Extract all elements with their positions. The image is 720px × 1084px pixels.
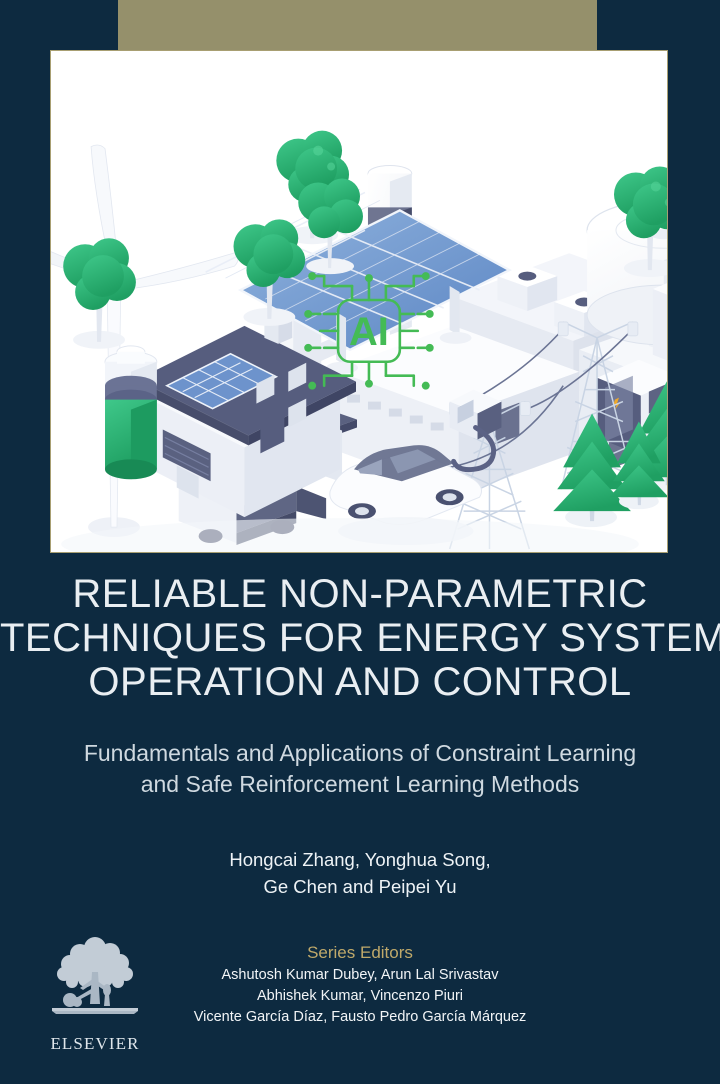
elsevier-logo: ELSEVIER <box>40 932 150 1058</box>
cover-illustration-panel: AI <box>50 50 668 553</box>
book-authors: Hongcai Zhang, Yonghua Song, Ge Chen and… <box>0 846 720 900</box>
author-line-1: Hongcai Zhang, Yonghua Song, <box>0 846 720 873</box>
book-subtitle: Fundamentals and Applications of Constra… <box>0 738 720 800</box>
elsevier-wordmark: ELSEVIER <box>40 1034 150 1054</box>
subtitle-line-2: and Safe Reinforcement Learning Methods <box>0 769 720 800</box>
elsevier-tree-logo <box>40 932 150 1032</box>
ai-chip-label: AI <box>349 310 389 354</box>
book-title: RELIABLE NON-PARAMETRIC TECHNIQUES FOR E… <box>0 572 720 704</box>
book-cover: ADVANCES IN INTELLIGENT ENERGY SYSTEMS <box>0 0 720 1084</box>
energy-landscape-illustration: AI <box>51 51 667 552</box>
subtitle-line-1: Fundamentals and Applications of Constra… <box>0 738 720 769</box>
title-line-1: RELIABLE NON-PARAMETRIC <box>0 572 720 616</box>
green-battery-cylinder <box>105 346 157 479</box>
title-line-2: TECHNIQUES FOR ENERGY SYSTEM <box>0 616 720 660</box>
title-line-3: OPERATION AND CONTROL <box>0 660 720 704</box>
author-line-2: Ge Chen and Peipei Yu <box>0 873 720 900</box>
